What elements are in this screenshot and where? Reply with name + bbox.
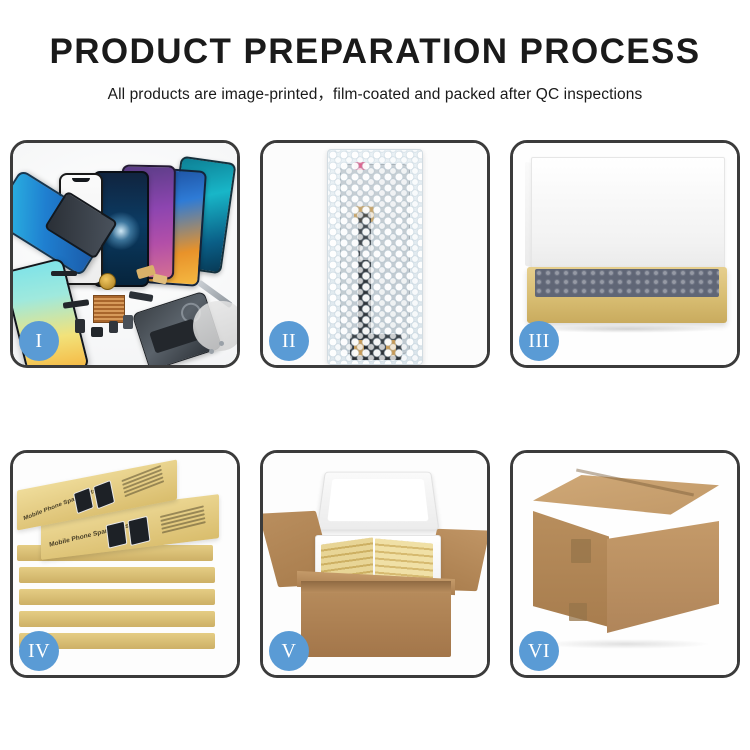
sim-tray-icon (109, 321, 118, 333)
earpiece-mesh-icon (51, 271, 77, 276)
bubble-texture-overlay-icon (328, 150, 422, 364)
box-shadow (533, 325, 721, 333)
kraft-box-layer-4 (19, 611, 215, 627)
box-spec-lines-front (160, 505, 206, 535)
carton-tape-lower-icon (569, 603, 587, 621)
step-card-4: Mobile Phone Spare Parts Mobile Phone Sp… (10, 450, 240, 678)
copper-shield-grid-icon (93, 295, 125, 323)
header: PRODUCT PREPARATION PROCESS All products… (0, 0, 750, 104)
carton-shadow (541, 639, 711, 649)
button-part-icon (123, 315, 133, 329)
step-card-1: I (10, 140, 240, 368)
step-badge-6: VI (519, 631, 559, 671)
box-screen-thumb-2-icon (127, 516, 150, 546)
carton-tape-upper-icon (571, 539, 591, 563)
bubble-wrap-bag-icon (327, 149, 423, 365)
step-card-2: II (260, 140, 490, 368)
bubble-wrapped-contents-icon (535, 269, 719, 297)
box-spec-lines-back (121, 465, 164, 499)
hand-icon (193, 301, 237, 351)
screw-icon (209, 349, 214, 354)
page-title: PRODUCT PREPARATION PROCESS (0, 34, 750, 71)
step-badge-1: I (19, 321, 59, 361)
foam-case-lid-icon (317, 472, 440, 531)
step-badge-3: III (519, 321, 559, 361)
box-screen-thumb-4-icon (93, 480, 115, 510)
phone-notch-icon (72, 178, 90, 182)
vibrator-motor-icon (91, 327, 103, 337)
step-card-5: V (260, 450, 490, 678)
kraft-box-layer-3 (19, 589, 215, 605)
step-badge-5: V (269, 631, 309, 671)
step-card-3: III (510, 140, 740, 368)
page-subtitle: All products are image-printed，film-coat… (0, 82, 750, 104)
speaker-coil-icon (99, 273, 116, 290)
box-screen-thumb-1-icon (106, 521, 128, 549)
camera-module-icon (75, 319, 85, 333)
kraft-box-layer-2 (19, 567, 215, 583)
steps-grid: I II (10, 140, 740, 678)
step-badge-2: II (269, 321, 309, 361)
step-card-6: VI (510, 450, 740, 678)
step-badge-4: IV (19, 631, 59, 671)
white-box-lid-icon (531, 157, 725, 279)
carton-body-icon (301, 581, 451, 657)
screw-2-icon (219, 341, 224, 346)
product-preparation-infographic: PRODUCT PREPARATION PROCESS All products… (0, 0, 750, 750)
